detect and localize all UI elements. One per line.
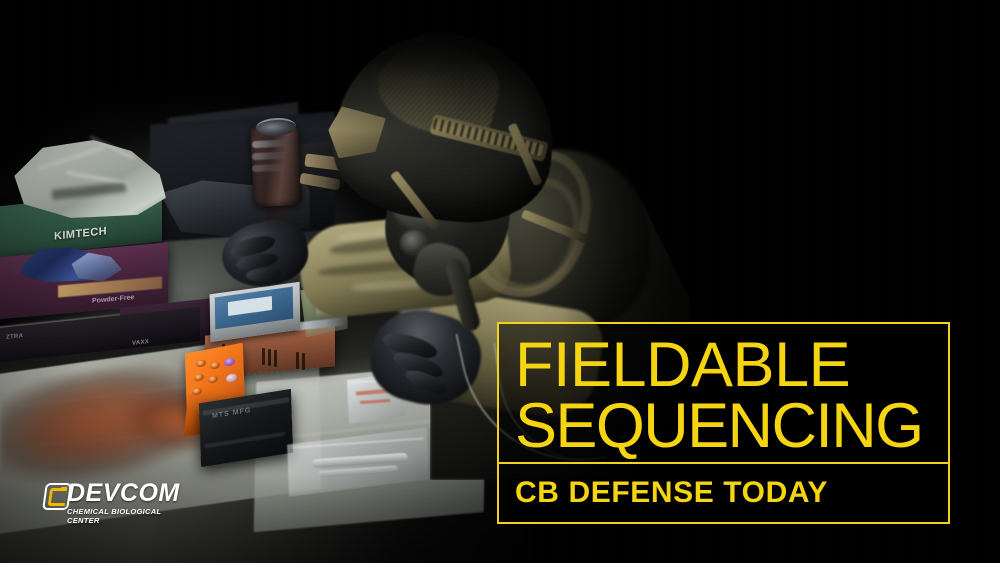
- video-title-card: KIMTECH Powder-Free ZTRA VAXX: [0, 0, 1000, 563]
- title-line-1: FIELDABLE: [515, 335, 932, 396]
- devcom-logo: DEVCOM CHEMICAL BIOLOGICAL CENTER: [44, 481, 179, 525]
- title-line-2: SEQUENCING: [515, 396, 932, 457]
- devcom-subtitle-line-2: CENTER: [67, 517, 180, 525]
- title-card-box: FIELDABLE SEQUENCING CB DEFENSE TODAY: [497, 322, 950, 524]
- devcom-logo-text: DEVCOM CHEMICAL BIOLOGICAL CENTER: [67, 481, 180, 524]
- title-subtitle-block: CB DEFENSE TODAY: [499, 464, 948, 522]
- title-main-block: FIELDABLE SEQUENCING: [499, 324, 948, 462]
- devcom-wordmark: DEVCOM: [67, 481, 180, 506]
- title-subtitle: CB DEFENSE TODAY: [515, 476, 828, 510]
- devcom-subtitle-line-1: CHEMICAL BIOLOGICAL: [67, 508, 180, 516]
- logo-mark-inner-c: [47, 488, 67, 506]
- devcom-c-mark-icon: [42, 483, 72, 510]
